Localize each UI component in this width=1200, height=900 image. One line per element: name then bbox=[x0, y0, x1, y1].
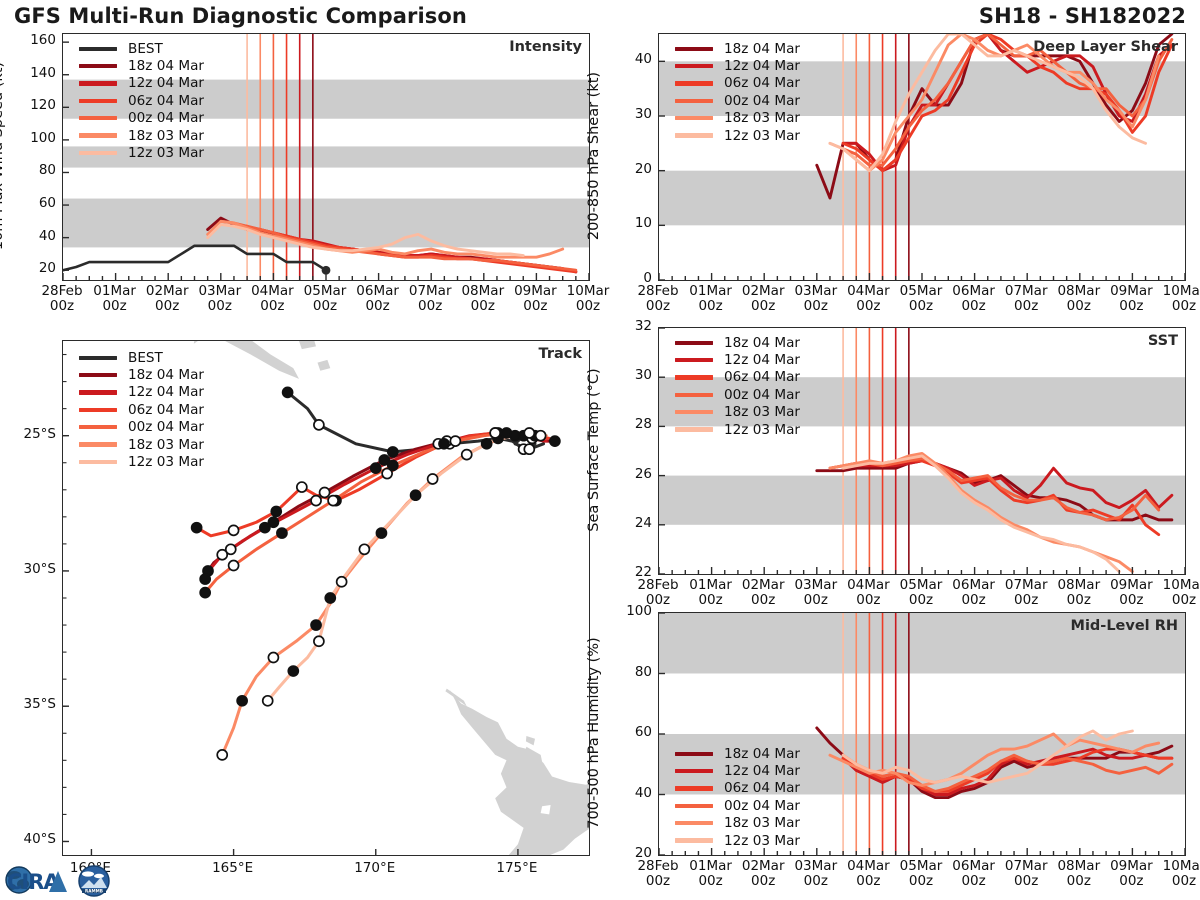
legend-label: 06z 04 Mar bbox=[128, 93, 204, 109]
legend-label: 12z 04 Mar bbox=[724, 58, 800, 74]
legend-label: 00z 04 Mar bbox=[128, 110, 204, 126]
legend-label: 18z 04 Mar bbox=[724, 41, 800, 57]
legend-item[interactable]: 18z 04 Mar bbox=[79, 57, 204, 74]
legend-swatch bbox=[79, 373, 117, 377]
x-tick-date: 10Mar bbox=[1151, 859, 1200, 874]
lake-taupo bbox=[541, 805, 551, 814]
track-marker-12z bbox=[337, 577, 347, 587]
track-marker-12z bbox=[450, 436, 460, 446]
y-axis-tick: 20 bbox=[612, 161, 652, 177]
shear-title: Deep Layer Shear bbox=[1033, 39, 1178, 55]
track-marker-00z bbox=[371, 463, 381, 473]
track-marker-12z bbox=[524, 444, 534, 454]
legend-swatch bbox=[675, 804, 713, 808]
land-island-small bbox=[318, 360, 331, 371]
y-axis-tick: 26 bbox=[612, 466, 652, 482]
legend-item[interactable]: 12z 03 Mar bbox=[675, 421, 800, 438]
x-tick-date: 10Mar bbox=[555, 284, 621, 299]
legend-label: 06z 04 Mar bbox=[724, 75, 800, 91]
legend-swatch bbox=[79, 47, 117, 51]
legend-swatch bbox=[675, 838, 713, 842]
track-marker-12z bbox=[217, 750, 227, 760]
sst-y-axis-label: Sea Surface Temp (°C) bbox=[586, 368, 602, 531]
y-axis-tick: 40 bbox=[16, 228, 56, 244]
land-new-caledonia bbox=[194, 341, 299, 379]
rh-y-axis-label: 700-500 hPa Humidity (%) bbox=[586, 637, 602, 828]
legend-swatch bbox=[675, 64, 713, 68]
legend-swatch bbox=[675, 341, 713, 345]
legend-item[interactable]: 12z 04 Mar bbox=[675, 351, 800, 368]
track-x-tick: 170°E bbox=[340, 860, 410, 876]
legend-label: 18z 03 Mar bbox=[724, 404, 800, 420]
x-axis-tick: 10Mar00z bbox=[1151, 578, 1200, 607]
legend-item[interactable]: 12z 03 Mar bbox=[79, 144, 204, 161]
legend-swatch bbox=[79, 390, 117, 394]
legend-swatch bbox=[79, 356, 117, 360]
track-marker-12z bbox=[311, 496, 321, 506]
track-x-tick: 165°E bbox=[198, 860, 268, 876]
legend-label: 00z 04 Mar bbox=[724, 387, 800, 403]
legend-swatch bbox=[675, 821, 713, 825]
track-y-tick: 40°S bbox=[6, 831, 56, 847]
track-marker-12z bbox=[524, 428, 534, 438]
legend-swatch bbox=[675, 47, 713, 51]
track-marker-00z bbox=[325, 593, 335, 603]
legend-label: 06z 04 Mar bbox=[724, 369, 800, 385]
x-tick-hour: 00z bbox=[1151, 593, 1200, 608]
track-marker-12z bbox=[490, 428, 500, 438]
y-axis-tick: 120 bbox=[16, 97, 56, 113]
legend-item[interactable]: 18z 03 Mar bbox=[675, 815, 800, 832]
cira-logo: CIRA RAMMB bbox=[2, 858, 130, 900]
legend-item[interactable]: 00z 04 Mar bbox=[79, 419, 204, 436]
land-northland-tip bbox=[445, 689, 466, 707]
legend-item[interactable]: 18z 04 Mar bbox=[675, 745, 800, 762]
track-line bbox=[288, 392, 544, 452]
legend-label: 00z 04 Mar bbox=[128, 419, 204, 435]
y-axis-tick: 30 bbox=[612, 367, 652, 383]
legend-label: 12z 04 Mar bbox=[128, 384, 204, 400]
legend-item[interactable]: 12z 04 Mar bbox=[79, 75, 204, 92]
legend-item[interactable]: 00z 04 Mar bbox=[675, 386, 800, 403]
legend-swatch bbox=[675, 769, 713, 773]
legend-swatch bbox=[675, 427, 713, 431]
intensity-y-axis-label: 10m Max Wind Speed (kt) bbox=[0, 62, 6, 250]
legend-label: 12z 03 Mar bbox=[724, 128, 800, 144]
legend-label: 12z 03 Mar bbox=[128, 145, 204, 161]
legend-item[interactable]: 12z 03 Mar bbox=[675, 832, 800, 849]
y-axis-tick: 60 bbox=[612, 724, 652, 740]
legend-label: 12z 03 Mar bbox=[724, 422, 800, 438]
track-marker-00z bbox=[311, 620, 321, 630]
rh-title: Mid-Level RH bbox=[1071, 618, 1178, 634]
legend-item[interactable]: BEST bbox=[79, 40, 204, 57]
x-axis-tick: 10Mar00z bbox=[555, 284, 621, 313]
panel-track: TrackBEST18z 04 Mar12z 04 Mar06z 04 Mar0… bbox=[62, 340, 590, 856]
legend-label: BEST bbox=[128, 350, 163, 366]
legend-swatch bbox=[79, 151, 117, 155]
shaded-band bbox=[659, 171, 1185, 226]
legend-label: 18z 04 Mar bbox=[724, 746, 800, 762]
x-tick-date: 10Mar bbox=[1151, 284, 1200, 299]
legend-swatch bbox=[675, 81, 713, 85]
legend-swatch bbox=[675, 99, 713, 103]
legend-item[interactable]: 12z 04 Mar bbox=[675, 762, 800, 779]
track-title: Track bbox=[539, 346, 582, 362]
y-axis-tick: 24 bbox=[612, 515, 652, 531]
legend-item[interactable]: 18z 03 Mar bbox=[675, 404, 800, 421]
y-axis-tick: 40 bbox=[612, 785, 652, 801]
legend-item[interactable]: BEST bbox=[79, 349, 204, 366]
track-marker-00z bbox=[439, 439, 449, 449]
track-marker-00z bbox=[271, 506, 281, 516]
legend-swatch bbox=[675, 786, 713, 790]
track-marker-12z bbox=[314, 420, 324, 430]
track-marker-00z bbox=[510, 431, 520, 441]
land-great-barrier bbox=[526, 736, 535, 745]
track-marker-12z bbox=[359, 544, 369, 554]
y-axis-tick: 80 bbox=[16, 162, 56, 178]
track-y-tick: 35°S bbox=[6, 696, 56, 712]
x-tick-date: 10Mar bbox=[1151, 578, 1200, 593]
legend-swatch bbox=[675, 752, 713, 756]
track-marker-00z bbox=[283, 387, 293, 397]
legend-item[interactable]: 18z 03 Mar bbox=[79, 127, 204, 144]
x-axis-tick: 10Mar00z bbox=[1151, 284, 1200, 313]
legend-label: 18z 04 Mar bbox=[724, 335, 800, 351]
legend-swatch bbox=[79, 116, 117, 120]
rh-legend: 18z 04 Mar12z 04 Mar06z 04 Mar00z 04 Mar… bbox=[675, 745, 800, 849]
track-legend: BEST18z 04 Mar12z 04 Mar06z 04 Mar00z 04… bbox=[79, 349, 204, 471]
legend-swatch bbox=[79, 442, 117, 446]
land-new-zealand-north bbox=[450, 690, 589, 855]
track-line bbox=[268, 436, 535, 701]
legend-label: 18z 03 Mar bbox=[128, 128, 204, 144]
legend-item[interactable]: 12z 04 Mar bbox=[79, 384, 204, 401]
track-line bbox=[205, 433, 546, 579]
shear-y-axis-label: 200-850 hPa Shear (kt) bbox=[586, 72, 602, 240]
legend-item[interactable]: 06z 04 Mar bbox=[675, 75, 800, 92]
track-marker-00z bbox=[288, 666, 298, 676]
legend-label: 12z 04 Mar bbox=[724, 763, 800, 779]
legend-item[interactable]: 06z 04 Mar bbox=[675, 780, 800, 797]
y-axis-tick: 80 bbox=[612, 664, 652, 680]
track-line bbox=[222, 433, 546, 755]
sst-title: SST bbox=[1148, 333, 1178, 349]
legend-swatch bbox=[79, 425, 117, 429]
legend-label: 12z 03 Mar bbox=[128, 454, 204, 470]
track-marker-12z bbox=[428, 474, 438, 484]
track-marker-00z bbox=[376, 528, 386, 538]
track-marker-12z bbox=[217, 550, 227, 560]
panel-sst: SST18z 04 Mar12z 04 Mar06z 04 Mar00z 04 … bbox=[658, 327, 1186, 575]
legend-item[interactable]: 18z 04 Mar bbox=[79, 366, 204, 383]
page-title: GFS Multi-Run Diagnostic Comparison bbox=[14, 4, 467, 28]
x-tick-hour: 00z bbox=[555, 299, 621, 314]
track-y-tick: 25°S bbox=[6, 426, 56, 442]
legend-label: 12z 04 Mar bbox=[724, 352, 800, 368]
legend-item[interactable]: 12z 04 Mar bbox=[675, 57, 800, 74]
panel-rh: Mid-Level RH18z 04 Mar12z 04 Mar06z 04 M… bbox=[658, 612, 1186, 856]
legend-swatch bbox=[79, 408, 117, 412]
intensity-title: Intensity bbox=[509, 39, 582, 55]
y-axis-tick: 40 bbox=[612, 51, 652, 67]
legend-label: 18z 03 Mar bbox=[128, 437, 204, 453]
legend-item[interactable]: 18z 03 Mar bbox=[675, 110, 800, 127]
legend-item[interactable]: 06z 04 Mar bbox=[79, 401, 204, 418]
svg-text:RAMMB: RAMMB bbox=[85, 888, 103, 893]
legend-label: 18z 04 Mar bbox=[128, 58, 204, 74]
legend-label: 12z 03 Mar bbox=[724, 833, 800, 849]
legend-swatch bbox=[675, 393, 713, 397]
track-marker-00z bbox=[277, 528, 287, 538]
legend-item[interactable]: 18z 04 Mar bbox=[675, 334, 800, 351]
legend-item[interactable]: 12z 03 Mar bbox=[79, 453, 204, 470]
y-axis-tick: 100 bbox=[612, 603, 652, 619]
legend-item[interactable]: 06z 04 Mar bbox=[79, 92, 204, 109]
track-marker-12z bbox=[263, 696, 273, 706]
track-marker-00z bbox=[237, 696, 247, 706]
storm-id-label: SH18 - SH182022 bbox=[979, 4, 1186, 28]
legend-swatch bbox=[675, 116, 713, 120]
track-marker-12z bbox=[314, 636, 324, 646]
legend-label: 12z 04 Mar bbox=[128, 75, 204, 91]
legend-label: 00z 04 Mar bbox=[724, 798, 800, 814]
track-marker-12z bbox=[320, 487, 330, 497]
y-axis-tick: 32 bbox=[612, 318, 652, 334]
y-axis-tick: 160 bbox=[16, 32, 56, 48]
legend-item[interactable]: 00z 04 Mar bbox=[675, 92, 800, 109]
shaded-band bbox=[659, 476, 1185, 525]
legend-item[interactable]: 12z 03 Mar bbox=[675, 127, 800, 144]
track-marker-12z bbox=[328, 496, 338, 506]
track-marker-12z bbox=[297, 482, 307, 492]
y-axis-tick: 20 bbox=[16, 260, 56, 276]
track-marker-00z bbox=[192, 523, 202, 533]
track-marker-00z bbox=[482, 439, 492, 449]
track-marker-00z bbox=[550, 436, 560, 446]
panel-shear: Deep Layer Shear18z 04 Mar12z 04 Mar06z … bbox=[658, 33, 1186, 281]
legend-item[interactable]: 00z 04 Mar bbox=[675, 797, 800, 814]
land-island-small bbox=[299, 341, 316, 349]
track-marker-00z bbox=[260, 523, 270, 533]
shaded-band bbox=[63, 199, 589, 248]
legend-label: 00z 04 Mar bbox=[724, 93, 800, 109]
legend-label: 18z 03 Mar bbox=[724, 815, 800, 831]
legend-label: 18z 04 Mar bbox=[128, 367, 204, 383]
legend-swatch bbox=[675, 375, 713, 379]
legend-swatch bbox=[675, 410, 713, 414]
legend-swatch bbox=[79, 64, 117, 68]
legend-item[interactable]: 18z 04 Mar bbox=[675, 40, 800, 57]
track-y-tick: 30°S bbox=[6, 561, 56, 577]
y-axis-tick: 60 bbox=[16, 195, 56, 211]
track-marker-00z bbox=[200, 588, 210, 598]
legend-label: 06z 04 Mar bbox=[128, 402, 204, 418]
y-axis-tick: 28 bbox=[612, 416, 652, 432]
legend-label: 06z 04 Mar bbox=[724, 780, 800, 796]
legend-swatch bbox=[79, 460, 117, 464]
track-line bbox=[208, 433, 555, 571]
track-marker-00z bbox=[388, 447, 398, 457]
track-marker-12z bbox=[229, 525, 239, 535]
track-marker-00z bbox=[411, 490, 421, 500]
track-marker-12z bbox=[268, 653, 278, 663]
track-line bbox=[205, 433, 541, 593]
shear-legend: 18z 04 Mar12z 04 Mar06z 04 Mar00z 04 Mar… bbox=[675, 40, 800, 144]
track-marker-00z bbox=[388, 460, 398, 470]
track-marker-12z bbox=[536, 431, 546, 441]
x-tick-hour: 00z bbox=[1151, 299, 1200, 314]
track-x-tick: 175°E bbox=[482, 860, 552, 876]
legend-swatch bbox=[79, 81, 117, 85]
legend-label: BEST bbox=[128, 41, 163, 57]
panel-intensity: IntensityBEST18z 04 Mar12z 04 Mar06z 04 … bbox=[62, 33, 590, 281]
legend-item[interactable]: 18z 03 Mar bbox=[79, 436, 204, 453]
y-axis-tick: 140 bbox=[16, 65, 56, 81]
legend-item[interactable]: 06z 04 Mar bbox=[675, 369, 800, 386]
legend-swatch bbox=[675, 358, 713, 362]
track-marker-12z bbox=[462, 450, 472, 460]
intensity-legend: BEST18z 04 Mar12z 04 Mar06z 04 Mar00z 04… bbox=[79, 40, 204, 162]
y-axis-tick: 10 bbox=[612, 215, 652, 231]
legend-swatch bbox=[79, 133, 117, 137]
legend-swatch bbox=[675, 133, 713, 137]
track-marker-12z bbox=[229, 561, 239, 571]
track-marker-00z bbox=[200, 574, 210, 584]
sst-legend: 18z 04 Mar12z 04 Mar06z 04 Mar00z 04 Mar… bbox=[675, 334, 800, 438]
x-axis-tick: 10Mar00z bbox=[1151, 859, 1200, 888]
x-tick-hour: 00z bbox=[1151, 874, 1200, 889]
legend-item[interactable]: 00z 04 Mar bbox=[79, 110, 204, 127]
legend-label: 18z 03 Mar bbox=[724, 110, 800, 126]
y-axis-tick: 100 bbox=[16, 130, 56, 146]
y-axis-tick: 30 bbox=[612, 106, 652, 122]
legend-swatch bbox=[79, 99, 117, 103]
